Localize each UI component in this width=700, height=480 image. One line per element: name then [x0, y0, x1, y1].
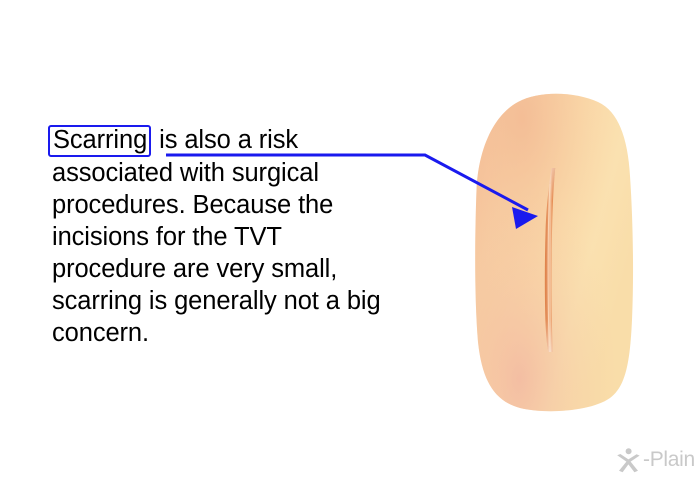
- caption-body: is also a risk associated with surgical …: [52, 126, 381, 347]
- illustration-skin-with-scar: [440, 80, 650, 420]
- x-plain-logo: -Plain: [616, 444, 696, 476]
- x-plain-person-icon: [616, 447, 642, 473]
- logo-text: -Plain: [643, 448, 695, 472]
- highlighted-term-scarring[interactable]: Scarring: [48, 125, 151, 157]
- slide-canvas: Scarring is also a risk associated with …: [0, 0, 700, 480]
- caption-text: Scarring is also a risk associated with …: [52, 124, 402, 349]
- skin-patch: [475, 94, 633, 411]
